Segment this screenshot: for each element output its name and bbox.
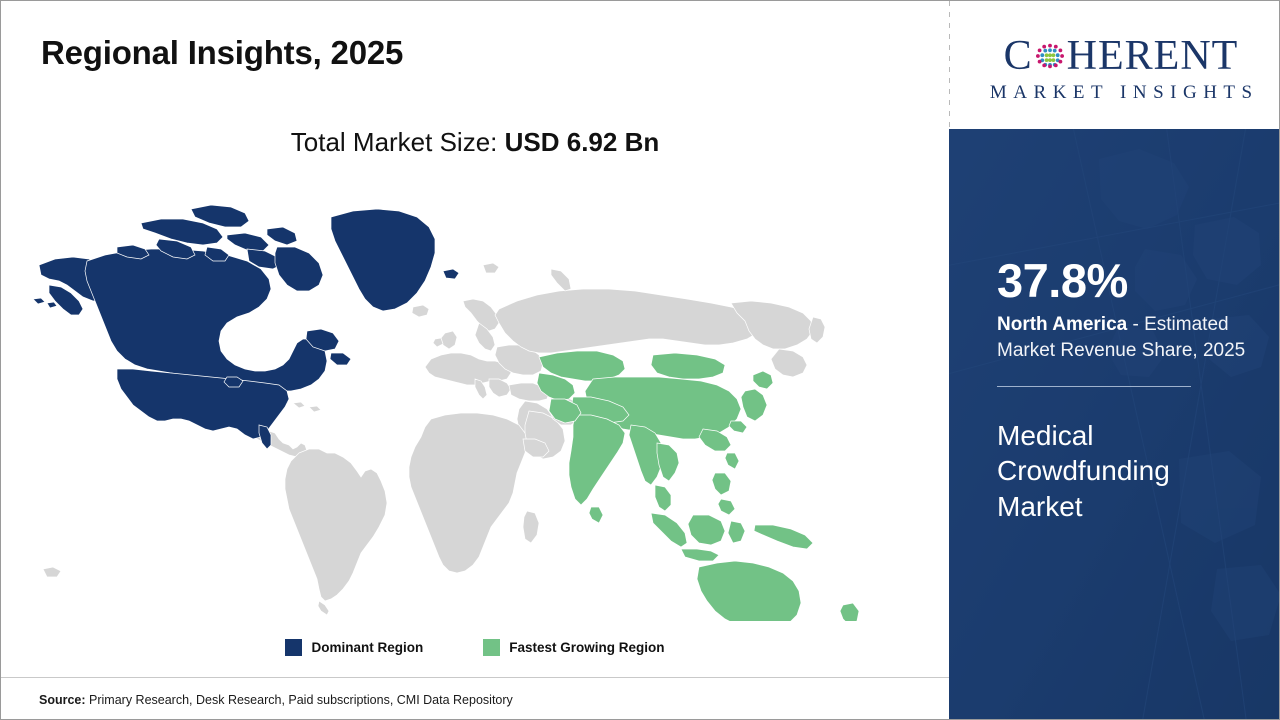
- stat-divider: [997, 386, 1191, 387]
- page-title: Regional Insights, 2025: [41, 34, 403, 72]
- legend-label-dominant: Dominant Region: [311, 640, 423, 655]
- market-size-value: USD 6.92 Bn: [505, 127, 660, 157]
- legend-label-fastest-growing: Fastest Growing Region: [509, 640, 664, 655]
- source-label: Source:: [39, 693, 86, 707]
- total-market-size: Total Market Size: USD 6.92 Bn: [1, 127, 949, 158]
- logo-tagline: MARKET INSIGHTS: [983, 83, 1258, 102]
- map-legend: Dominant Region Fastest Growing Region: [1, 639, 949, 656]
- logo-wordmark: C: [1004, 35, 1239, 77]
- stat-percent-value: 37.8%: [997, 257, 1269, 305]
- market-name: Medical Crowdfunding Market: [997, 418, 1247, 525]
- infographic-page: Regional Insights, 2025 Total Market Siz…: [0, 0, 1280, 720]
- panel-divider: [949, 1, 950, 129]
- market-size-label: Total Market Size:: [291, 127, 505, 157]
- world-map-container: [31, 181, 911, 621]
- navy-square-icon: [285, 639, 302, 656]
- map-region-north-america: [33, 205, 459, 449]
- brand-logo: C: [961, 1, 1280, 129]
- world-map: [31, 181, 911, 621]
- legend-item-fastest-growing: Fastest Growing Region: [483, 639, 664, 656]
- source-note: Source: Primary Research, Desk Research,…: [39, 693, 513, 707]
- globe-dots-icon: [1034, 40, 1066, 72]
- source-text: Primary Research, Desk Research, Paid su…: [86, 693, 513, 707]
- logo-letter-c: C: [1004, 35, 1033, 77]
- source-divider: [1, 677, 949, 678]
- left-content-panel: Regional Insights, 2025 Total Market Siz…: [1, 1, 949, 720]
- stat-panel-content: 37.8% North America - Estimated Market R…: [997, 257, 1269, 525]
- map-region-asia-pacific: [537, 351, 859, 621]
- logo-letters-herent: HERENT: [1067, 35, 1239, 77]
- stat-region-name: North America: [997, 314, 1127, 335]
- stat-description: North America - Estimated Market Revenue…: [997, 312, 1265, 364]
- green-square-icon: [483, 639, 500, 656]
- legend-item-dominant: Dominant Region: [285, 639, 423, 656]
- stat-panel: 37.8% North America - Estimated Market R…: [949, 129, 1280, 720]
